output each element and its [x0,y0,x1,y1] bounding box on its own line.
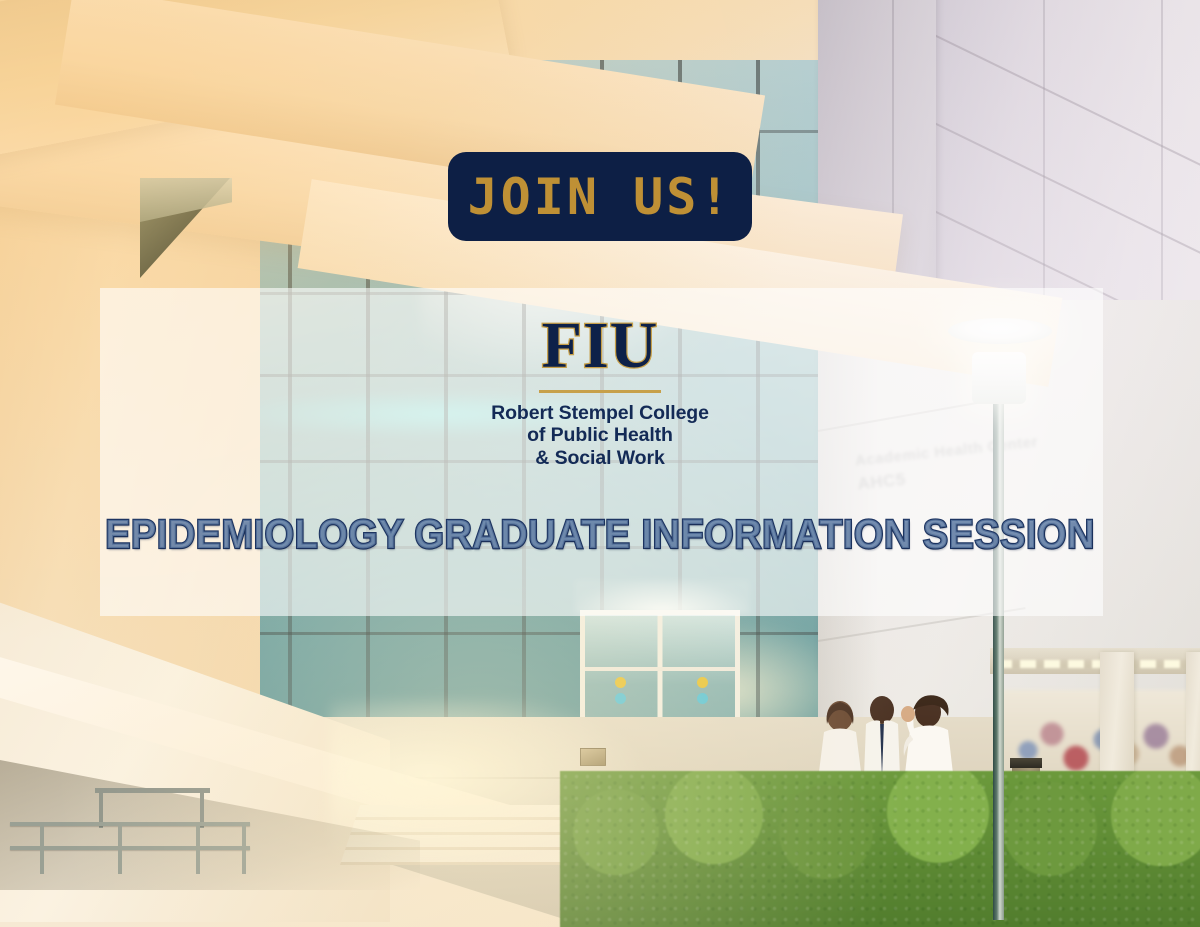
stair-wall-plaque [580,748,606,766]
railing-post [118,822,122,874]
college-name-block: Robert Stempel College of Public Health … [0,402,1200,470]
fiu-wordmark: FIU [542,314,659,379]
fiu-logo-lockup: FIU Robert Stempel College of Public Hea… [0,314,1200,470]
railing-post [196,822,200,874]
walkway-ceiling-lights [996,660,1200,668]
logo-divider-rule [539,390,661,393]
door-rail [585,667,735,671]
door-decal-cyan [697,693,708,704]
college-name-line-3: & Social Work [0,447,1200,470]
flyer-canvas: Academic Health Center AHC5 [0,0,1200,927]
join-us-badge[interactable]: JOIN US! [448,152,752,241]
college-name-line-2: of Public Health [0,424,1200,447]
hedge-texture [560,771,1200,927]
foreground-hedge [560,771,1200,927]
railing-post [242,822,246,874]
bench-top [95,788,210,793]
trash-lid [1010,758,1042,768]
join-us-label: JOIN US! [468,172,733,222]
college-name-line-1: Robert Stempel College [0,402,1200,425]
door-decal-yellow [697,677,708,688]
railing-bar [10,822,250,826]
door-decal-yellow [615,677,626,688]
railing-bar [10,846,250,850]
flyer-title: EPIDEMIOLOGY GRADUATE INFORMATION SESSIO… [42,513,1158,556]
railing-post [40,822,44,874]
metal-railing [10,822,250,874]
